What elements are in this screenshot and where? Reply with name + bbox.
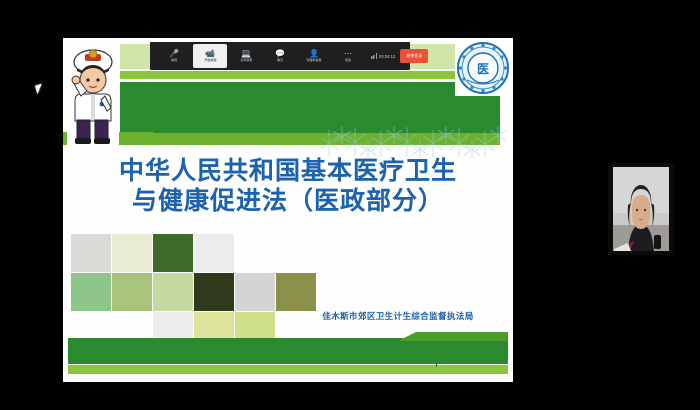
toolbar-label: 管理参会者: [306, 59, 321, 62]
toolbar-button-microphone[interactable]: 🎤 静音: [157, 43, 191, 69]
toolbar-button-video[interactable]: 📹 开启视频: [193, 44, 227, 68]
seedling-dark-tile: [194, 273, 234, 311]
grey-tile: [235, 273, 275, 311]
toolbar-button-share-screen[interactable]: 💻 共享屏幕: [229, 43, 263, 69]
toolbar-button-more[interactable]: ⋯ 更多: [331, 43, 365, 69]
svg-text:医: 医: [477, 62, 489, 76]
solid-green-tile: [71, 273, 111, 311]
video-camera-icon: 📹: [205, 50, 215, 58]
participant-video-tile[interactable]: [608, 163, 674, 255]
health-inspector-mascot-icon: [67, 42, 119, 145]
health-supervision-emblem-icon: 医: [455, 40, 511, 96]
slide-title-line-2: 与健康促进法（医政部分）: [63, 186, 513, 216]
pale-green-tile: [153, 273, 193, 311]
end-meeting-button[interactable]: 结束会议: [400, 49, 428, 63]
snowflake-watermark: [321, 126, 507, 160]
slide-title: 中华人民共和国基本医疗卫生 与健康促进法（医政部分）: [63, 156, 513, 216]
microphone-icon: 🎤: [169, 50, 179, 58]
toolbar-label: 静音: [171, 59, 177, 62]
share-screen-icon: 💻: [241, 50, 251, 58]
toolbar-button-participants[interactable]: 👤 管理参会者: [297, 43, 331, 69]
meeting-timer-label: 00:04:12: [379, 54, 395, 59]
video-conference-window: 医: [0, 0, 700, 410]
more-icon: ⋯: [344, 50, 352, 58]
sprout-blur-tile: [112, 273, 152, 311]
light-grey-tile: [194, 234, 234, 272]
toolbar-label: 聊天: [277, 59, 283, 62]
toolbar-button-chat[interactable]: 💬 聊天: [263, 43, 297, 69]
footer-band: [68, 332, 508, 378]
toolbar-label: 开启视频: [204, 59, 216, 62]
green-leaves-tile: [153, 234, 193, 272]
toolbar-label: 共享屏幕: [240, 59, 252, 62]
slide-title-line-1: 中华人民共和国基本医疗卫生: [63, 156, 513, 186]
participants-icon: 👤: [309, 50, 319, 58]
meeting-timer: 00:04:12: [371, 53, 395, 59]
meeting-toolbar[interactable]: 🎤 静音 📹 开启视频 💻 共享屏幕 💬 聊天 👤 管理参会者 ⋯ 更多: [150, 42, 410, 70]
pale-yellow-tile: [112, 234, 152, 272]
organization-name: 佳木斯市郊区卫生计生综合监督执法局: [293, 310, 503, 322]
signal-bars-icon: [371, 53, 377, 59]
sprout-soil-tile: [276, 273, 316, 311]
banner-light-bar: [120, 71, 500, 79]
shared-slide[interactable]: 医: [63, 38, 513, 382]
leaf-sketch-tile: [71, 234, 111, 272]
toolbar-label: 更多: [345, 59, 351, 62]
mouse-cursor: [35, 83, 48, 95]
chat-icon: 💬: [275, 50, 285, 58]
